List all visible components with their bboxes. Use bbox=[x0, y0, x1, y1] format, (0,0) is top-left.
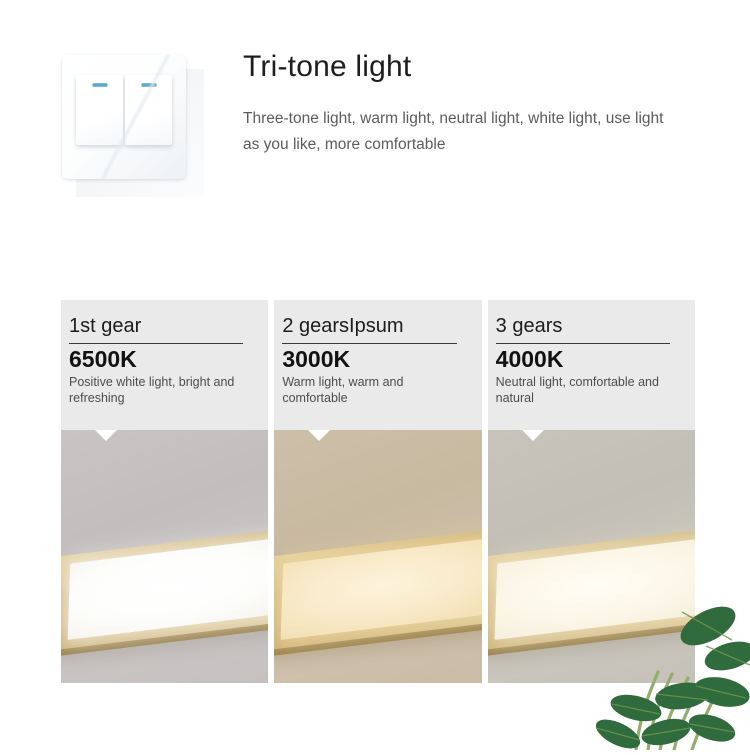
plant-svg bbox=[596, 600, 750, 750]
panel-description: Positive white light, bright and refresh… bbox=[69, 374, 258, 406]
panel-description: Warm light, warm and comfortable bbox=[282, 374, 471, 406]
kelvin-value: 4000K bbox=[496, 346, 685, 373]
gear-label: 2 gearsIpsum bbox=[282, 314, 471, 339]
divider-line bbox=[282, 343, 456, 344]
panel-text-block: 2 gearsIpsum 3000K Warm light, warm and … bbox=[274, 300, 481, 430]
page-title: Tri-tone light bbox=[243, 50, 411, 84]
switch-rocker-group bbox=[76, 75, 172, 145]
potted-plant-icon bbox=[596, 600, 750, 750]
divider-line bbox=[496, 343, 670, 344]
page-subtitle: Three-tone light, warm light, neutral li… bbox=[243, 106, 683, 158]
pointer-notch-icon bbox=[95, 430, 117, 441]
divider-line bbox=[69, 343, 243, 344]
switch-rocker-left[interactable] bbox=[76, 75, 123, 145]
switch-faceplate bbox=[62, 55, 186, 179]
pointer-notch-icon bbox=[308, 430, 330, 441]
pointer-notch-icon bbox=[522, 430, 544, 441]
gear-label: 3 gears bbox=[496, 314, 685, 339]
kelvin-value: 6500K bbox=[69, 346, 258, 373]
panel-text-block: 3 gears 4000K Neutral light, comfortable… bbox=[488, 300, 695, 430]
panel-description: Neutral light, comfortable and natural bbox=[496, 374, 685, 406]
panel-photo bbox=[274, 430, 481, 683]
led-indicator-icon bbox=[141, 83, 156, 87]
tone-panel-2: 2 gearsIpsum 3000K Warm light, warm and … bbox=[274, 300, 481, 683]
tone-panel-1: 1st gear 6500K Positive white light, bri… bbox=[61, 300, 268, 683]
switch-rocker-right[interactable] bbox=[125, 75, 172, 145]
header-section: Tri-tone light Three-tone light, warm li… bbox=[0, 0, 750, 250]
wall-switch-icon bbox=[62, 55, 202, 195]
panel-photo bbox=[61, 430, 268, 683]
kelvin-value: 3000K bbox=[282, 346, 471, 373]
panel-text-block: 1st gear 6500K Positive white light, bri… bbox=[61, 300, 268, 430]
led-indicator-icon bbox=[92, 83, 107, 87]
gear-label: 1st gear bbox=[69, 314, 258, 339]
